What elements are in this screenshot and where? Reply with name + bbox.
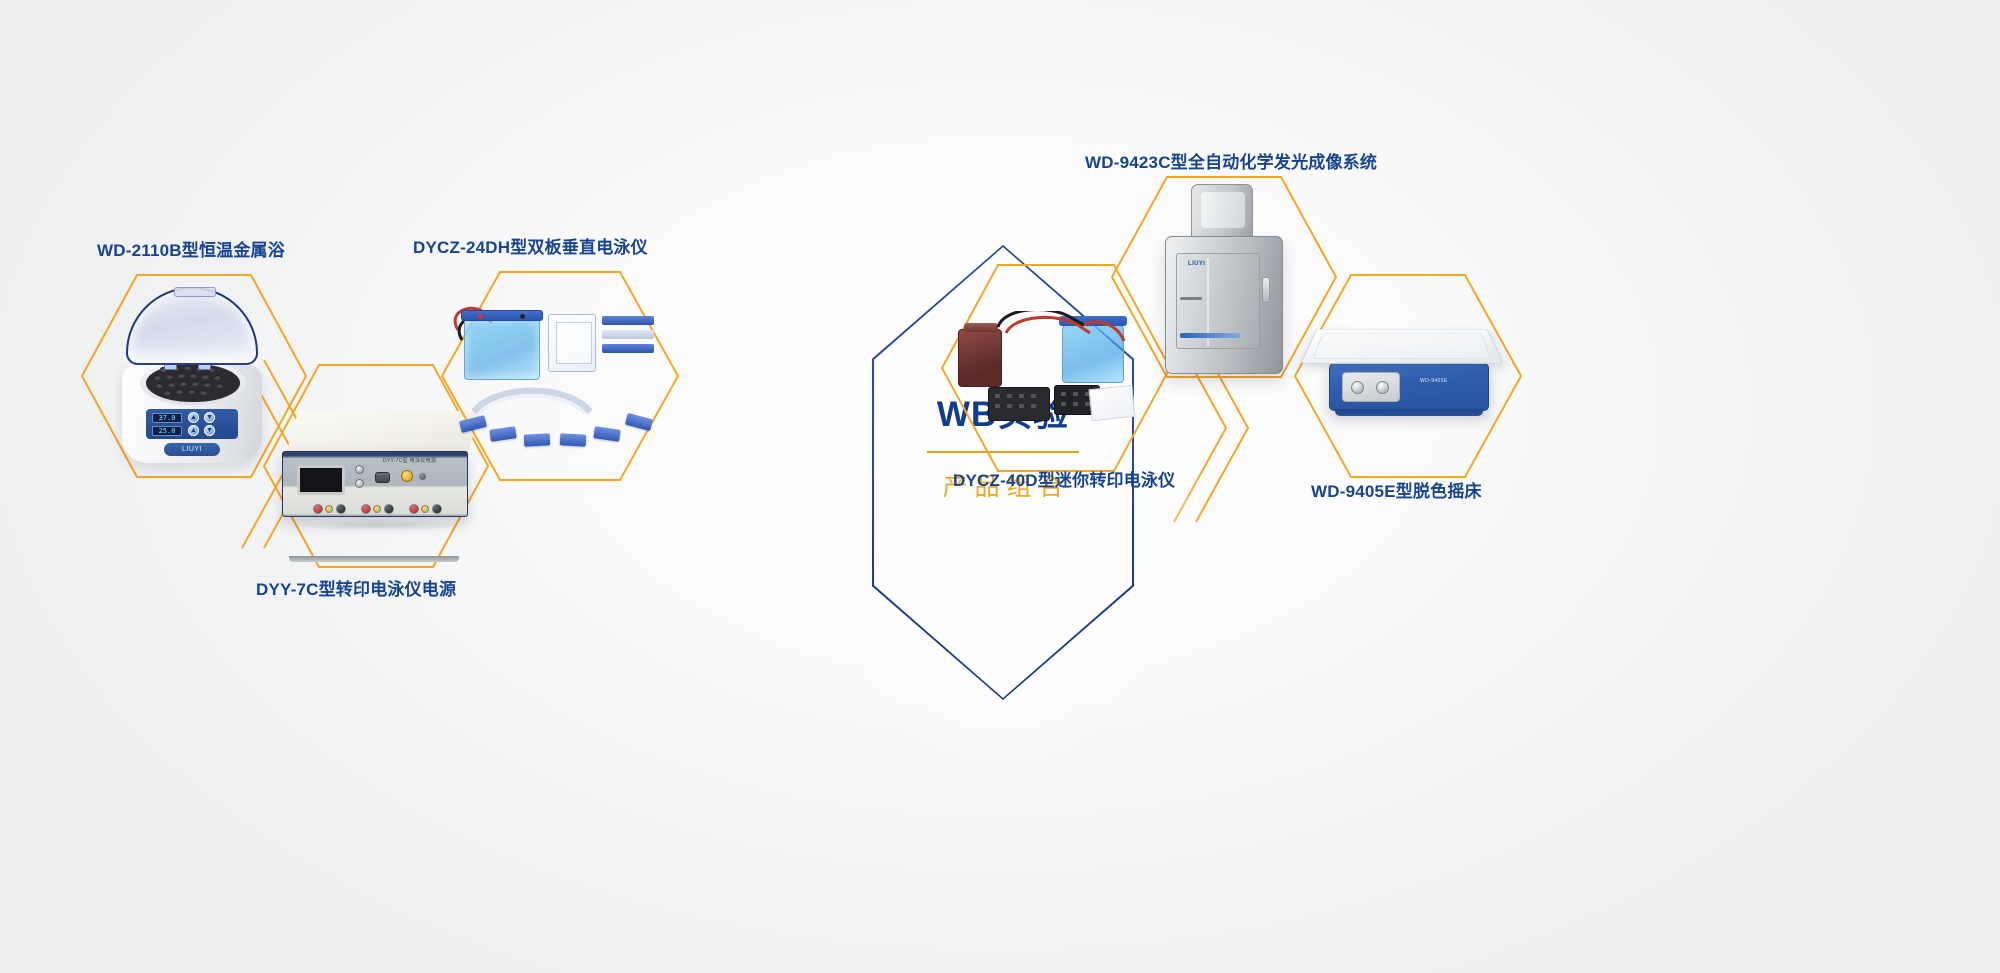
node-vertical-electrophoresis[interactable]: DYCZ-24DH型双板垂直电泳仪 xyxy=(440,270,680,482)
hexagon-frame-shaker xyxy=(1293,273,1523,479)
hexagon-frame-vertical-electrophoresis xyxy=(440,270,680,482)
node-decolorizing-shaker[interactable]: WD-9405E WD-9405E型脱色摇床 xyxy=(1293,273,1523,479)
label-power-supply: DYY-7C型转印电泳仪电源 xyxy=(256,575,456,600)
label-vertical-electrophoresis: DYCZ-24DH型双板垂直电泳仪 xyxy=(413,233,648,258)
poster-canvas: WB实验 产品组合 xyxy=(0,0,2000,973)
label-decolorizing-shaker: WD-9405E型脱色摇床 xyxy=(1311,477,1482,502)
label-metal-bath: WD-2110B型恒温金属浴 xyxy=(97,236,285,261)
label-mini-blot: DYCZ-40D型迷你转印电泳仪 xyxy=(953,466,1175,491)
label-chemiluminescence-imager: WD-9423C型全自动化学发光成像系统 xyxy=(1085,148,1377,173)
